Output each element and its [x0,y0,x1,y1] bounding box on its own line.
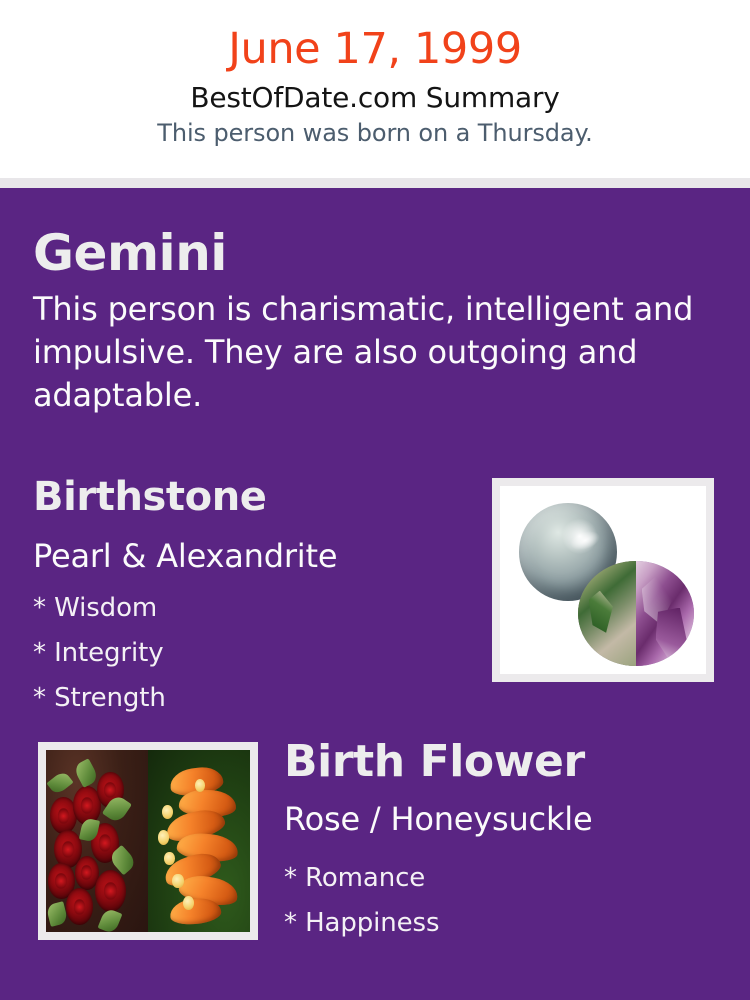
page-title-date: June 17, 1999 [0,22,750,76]
details-panel: Gemini This person is charismatic, intel… [0,188,750,1000]
honeysuckle-image-half [148,750,250,932]
list-item: * Wisdom [33,586,166,631]
list-item: * Romance [284,856,439,901]
birth-flower-name: Rose / Honeysuckle [284,799,592,839]
birthstone-heading: Birthstone [33,473,267,521]
birthstone-name: Pearl & Alexandrite [33,536,337,576]
birthstone-photo-frame [492,478,714,682]
list-item: * Happiness [284,901,439,946]
header-divider [0,178,750,188]
birthstone-photo [500,486,706,674]
list-item: * Integrity [33,631,166,676]
alexandrite-gem-icon [578,561,693,666]
alexandrite-rough-half [578,561,636,666]
born-weekday-text: This person was born on a Thursday. [0,117,750,149]
birth-flower-trait-list: * Romance * Happiness [284,856,439,946]
birth-flower-photo [46,750,250,932]
birth-flower-photo-frame [38,742,258,940]
roses-image-half [46,750,148,932]
zodiac-sign-heading: Gemini [33,224,227,282]
date-summary-poster: June 17, 1999 BestOfDate.com Summary Thi… [0,0,750,1000]
birth-flower-heading: Birth Flower [284,735,585,788]
birthstone-trait-list: * Wisdom * Integrity * Strength [33,586,166,721]
site-summary-label: BestOfDate.com Summary [0,80,750,116]
poster-header: June 17, 1999 BestOfDate.com Summary Thi… [0,0,750,178]
zodiac-description: This person is charismatic, intelligent … [33,288,703,417]
alexandrite-cut-half [636,561,694,666]
list-item: * Strength [33,676,166,721]
